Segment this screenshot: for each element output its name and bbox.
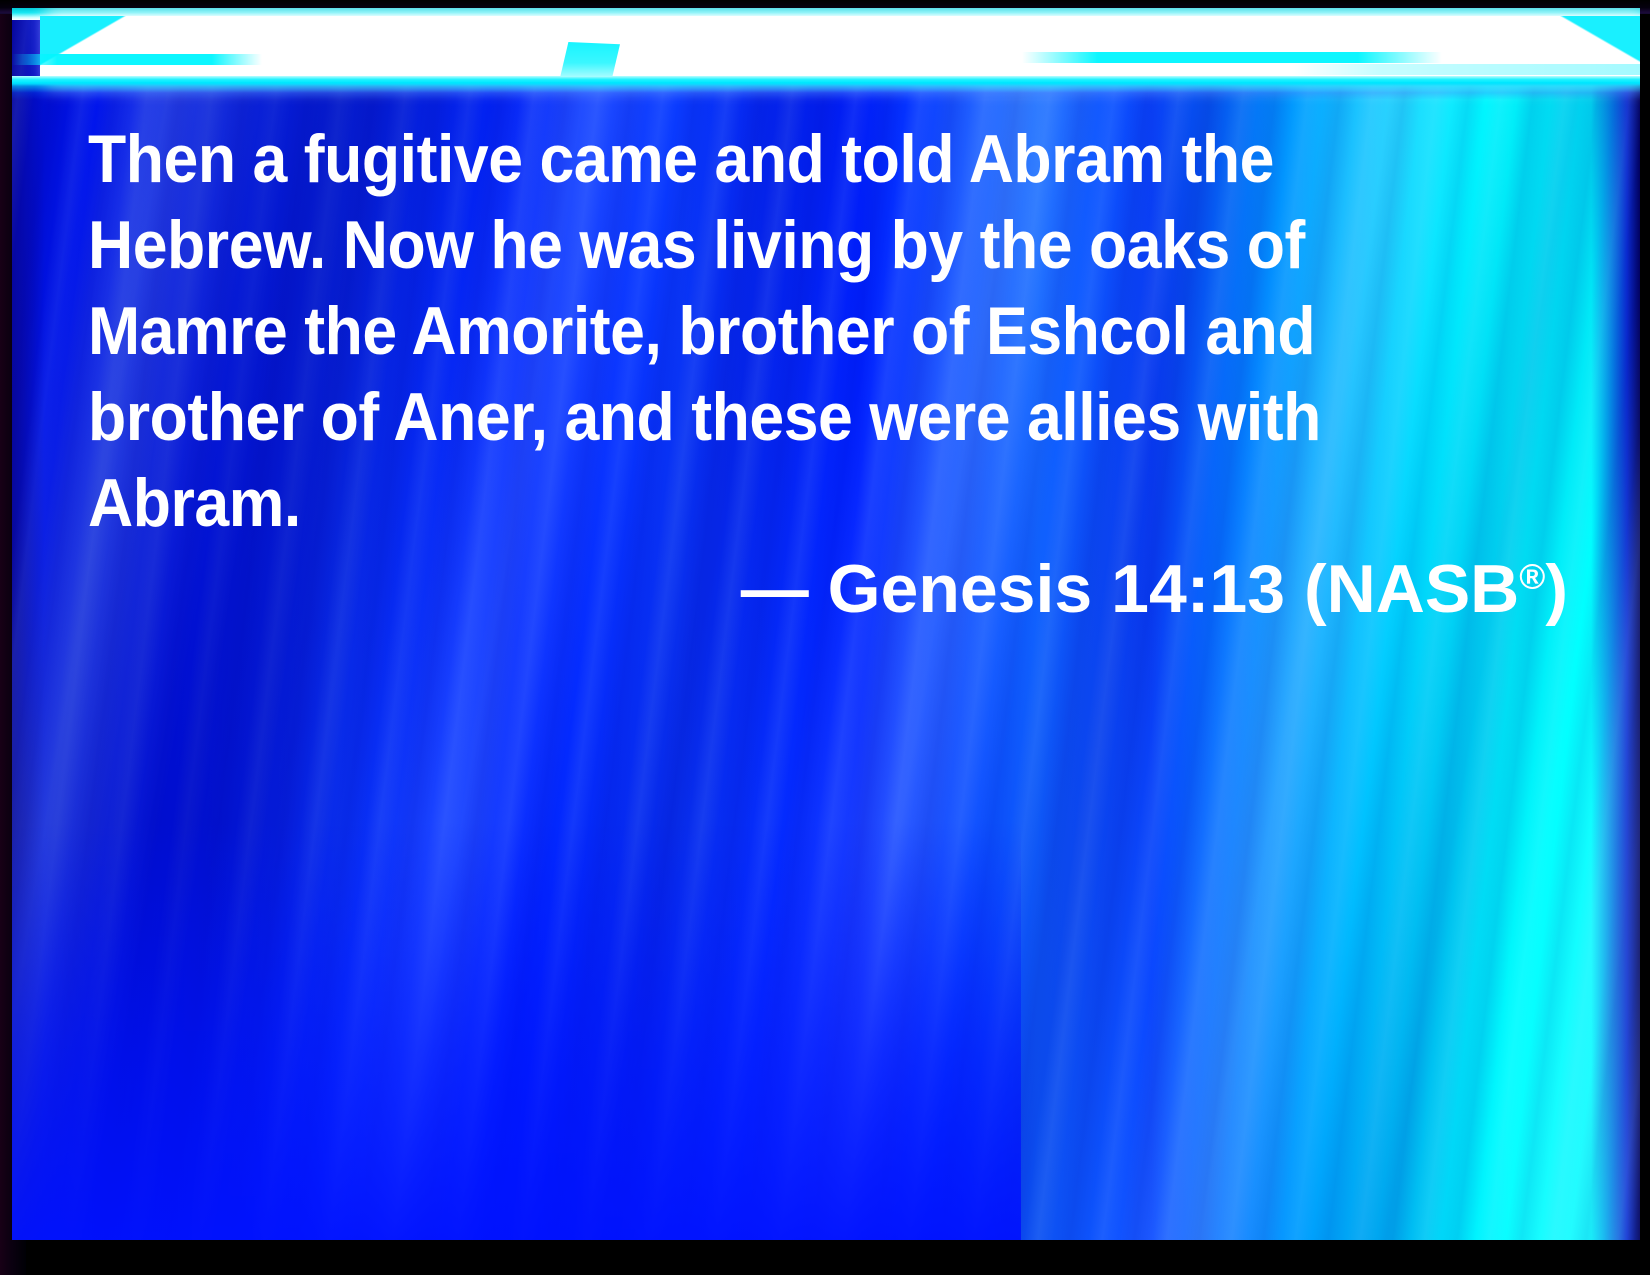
verse-line-4: brother of Aner, and these were allies w… <box>88 374 1394 460</box>
citation-translation-close: ) <box>1545 551 1568 627</box>
verse-citation: — Genesis 14:13 (NASB®) <box>88 546 1568 632</box>
verse-line-1: Then a fugitive came and told Abram the <box>88 116 1394 202</box>
verse-line-2: Hebrew. Now he was living by the oaks of <box>88 202 1394 288</box>
bible-verse-slide: Then a fugitive came and told Abram the … <box>0 0 1650 1275</box>
citation-translation-open: (NASB <box>1304 551 1519 627</box>
citation-chapter-verse: 14:13 <box>1111 551 1285 627</box>
verse-line-3: Mamre the Amorite, brother of Eshcol and <box>88 288 1394 374</box>
citation-dash: — <box>741 551 809 627</box>
slide-canvas: Then a fugitive came and told Abram the … <box>12 8 1640 1240</box>
registered-trademark-icon: ® <box>1519 557 1545 596</box>
citation-book: Genesis <box>828 551 1093 627</box>
verse-line-5: Abram. <box>88 460 1394 546</box>
verse-text-block: Then a fugitive came and told Abram the … <box>88 116 1508 546</box>
